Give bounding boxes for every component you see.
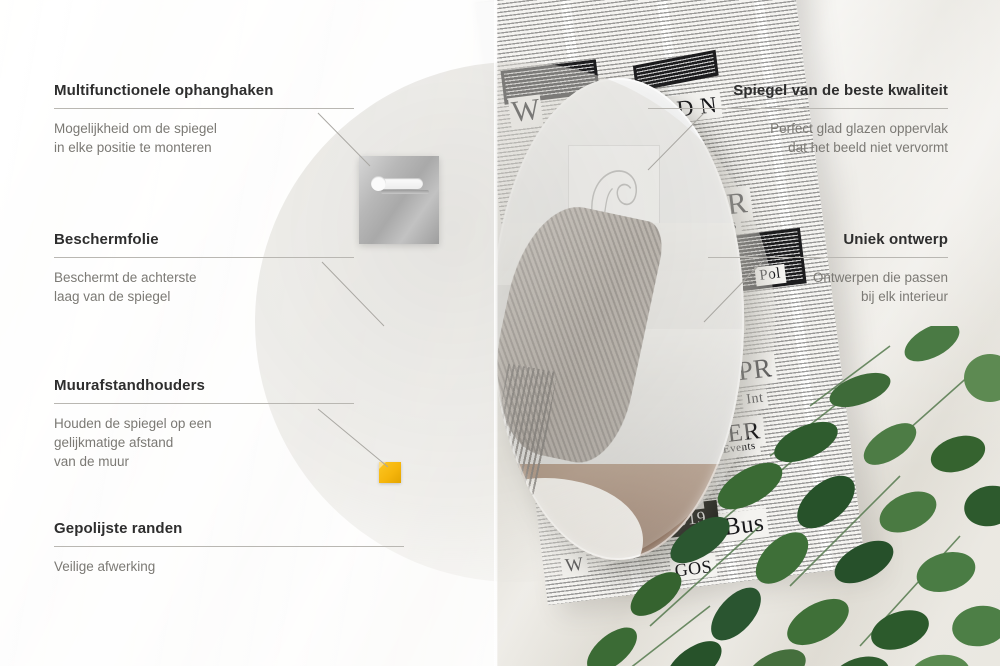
feature-block-quality: Spiegel van de beste kwaliteit Perfect g… — [648, 82, 948, 157]
infographic-canvas: W 2019 GOOD OLD NPAPERs and EventsPolss … — [0, 0, 1000, 666]
feature-description: Houden de spiegel op eengelijkmatige afs… — [54, 414, 334, 471]
feature-rule — [708, 257, 948, 258]
wall-spacer-block — [379, 462, 401, 483]
feature-block-edges: Gepolijste randen Veilige afwerking — [54, 520, 404, 576]
mounting-hook-plate — [359, 156, 439, 244]
feature-description: Perfect glad glazen oppervlakdat het bee… — [648, 119, 948, 157]
panel-edge — [494, 0, 498, 666]
feature-block-hooks: Multifunctionele ophanghaken Mogelijkhei… — [54, 82, 334, 157]
feature-description: Ontwerpen die passenbij elk interieur — [708, 268, 948, 306]
feature-title: Beschermfolie — [54, 231, 334, 248]
hook-bar — [381, 190, 429, 194]
feature-block-design: Uniek ontwerp Ontwerpen die passenbij el… — [708, 231, 948, 306]
feature-block-foil: Beschermfolie Beschermt de achterstelaag… — [54, 231, 334, 306]
feature-title: Spiegel van de beste kwaliteit — [648, 82, 948, 99]
feature-description: Veilige afwerking — [54, 557, 404, 576]
feature-description: Beschermt de achterstelaag van de spiege… — [54, 268, 334, 306]
feature-rule — [648, 108, 948, 109]
feature-title: Muurafstandhouders — [54, 377, 334, 394]
feature-title: Multifunctionele ophanghaken — [54, 82, 334, 99]
feature-description: Mogelijkheid om de spiegelin elke positi… — [54, 119, 334, 157]
feature-title: Uniek ontwerp — [708, 231, 948, 248]
hook-keyhole-slot — [378, 178, 423, 189]
feature-rule — [54, 108, 354, 109]
feature-rule — [54, 257, 354, 258]
feature-rule — [54, 546, 404, 547]
feature-block-spacers: Muurafstandhouders Houden de spiegel op … — [54, 377, 334, 471]
feature-rule — [54, 403, 354, 404]
feature-title: Gepolijste randen — [54, 520, 404, 537]
